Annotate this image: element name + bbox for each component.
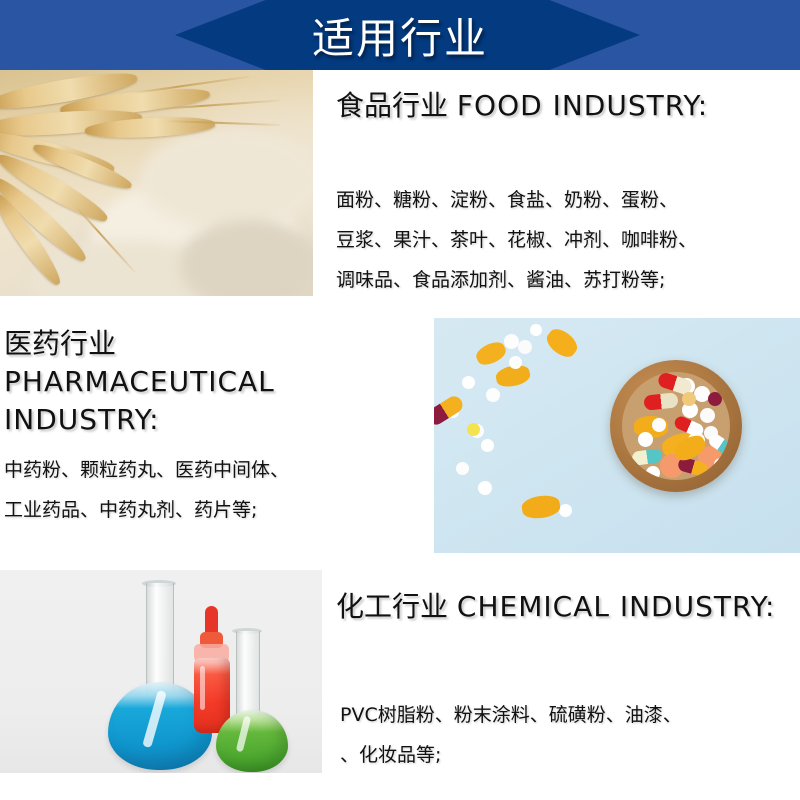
pills-in-wooden-bowl-photo (434, 318, 800, 553)
section-body-food-line-3: 调味品、食品添加剂、酱油、苏打粉等; (336, 260, 697, 300)
section-heading-food-cn: 食品行业 (336, 89, 448, 122)
section-heading-pharma: 医药行业 PHARMACEUTICAL INDUSTRY: (4, 325, 434, 439)
page-header-banner: 适用行业 (0, 0, 800, 70)
wooden-bowl (610, 360, 742, 492)
section-body-pharma-line-2: 工业药品、中药丸剂、药片等; (4, 490, 289, 530)
green-flask (216, 710, 288, 772)
wheat-and-flour-photo (0, 70, 313, 296)
section-body-food-line-1: 面粉、糖粉、淀粉、食盐、奶粉、蛋粉、 (336, 180, 697, 220)
section-body-food-line-2: 豆浆、果汁、茶叶、花椒、冲剂、咖啡粉、 (336, 220, 697, 260)
section-heading-chemical-cn: 化工行业 (336, 590, 448, 623)
laboratory-flasks-photo (0, 570, 322, 773)
section-body-chemical: PVC树脂粉、粉末涂料、硫磺粉、油漆、 、化妆品等; (340, 695, 682, 775)
page-title: 适用行业 (0, 0, 800, 70)
section-heading-food-en: FOOD INDUSTRY: (457, 89, 708, 122)
section-body-chemical-line-1: PVC树脂粉、粉末涂料、硫磺粉、油漆、 (340, 695, 682, 735)
section-heading-food: 食品行业 FOOD INDUSTRY: (336, 84, 708, 124)
section-heading-pharma-en: PHARMACEUTICAL INDUSTRY: (4, 365, 275, 436)
section-body-pharma-line-1: 中药粉、颗粒药丸、医药中间体、 (4, 450, 289, 490)
bowl-interior (622, 372, 730, 480)
section-body-food: 面粉、糖粉、淀粉、食盐、奶粉、蛋粉、 豆浆、果汁、茶叶、花椒、冲剂、咖啡粉、 调… (336, 180, 697, 300)
section-heading-chemical-en: CHEMICAL INDUSTRY: (457, 590, 776, 623)
section-body-chemical-line-2: 、化妆品等; (340, 735, 682, 775)
section-heading-chemical: 化工行业 CHEMICAL INDUSTRY: (336, 585, 775, 625)
section-heading-pharma-cn: 医药行业 (4, 327, 116, 360)
section-body-pharma: 中药粉、颗粒药丸、医药中间体、 工业药品、中药丸剂、药片等; (4, 450, 289, 530)
